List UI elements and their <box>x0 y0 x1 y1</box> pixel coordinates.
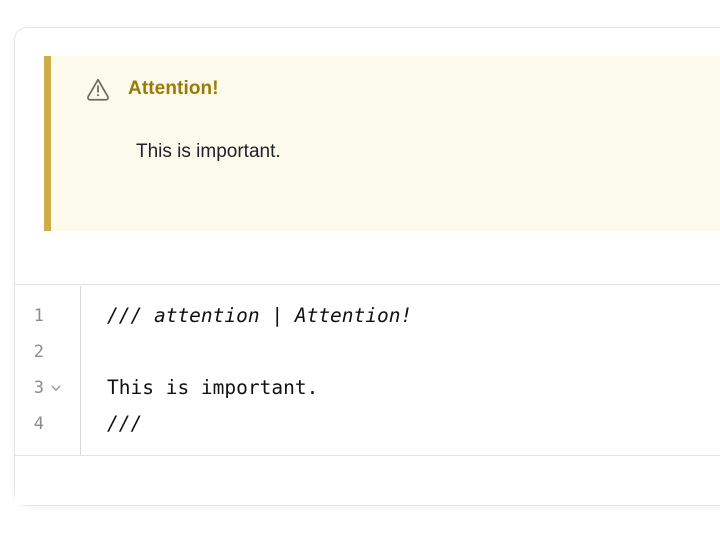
page-root: Attention! This is important. 1 2 3 <box>0 0 720 544</box>
admonition-body-text: This is important. <box>136 141 281 163</box>
gutter-row: 2 <box>15 334 81 370</box>
gutter-row: 4 <box>15 406 81 442</box>
line-number: 2 <box>15 344 44 361</box>
editor-code-area[interactable]: /// attention | Attention! This is impor… <box>95 286 720 455</box>
gutter-row: 1 <box>15 298 81 334</box>
fold-chevron-down-icon[interactable] <box>44 382 62 394</box>
code-line[interactable]: This is important. <box>107 370 318 406</box>
code-line[interactable]: /// attention | Attention! <box>107 298 412 334</box>
admonition-title-row: Attention! <box>85 74 219 104</box>
line-number: 1 <box>15 308 44 325</box>
source-code-editor[interactable]: 1 2 3 4 /// attention | Attention! This … <box>15 286 720 456</box>
line-number: 3 <box>15 380 44 397</box>
rendered-preview-pane: Attention! This is important. <box>15 28 720 285</box>
code-line[interactable]: /// <box>107 406 142 442</box>
line-number: 4 <box>15 416 44 433</box>
warning-triangle-icon <box>85 76 111 102</box>
card-footer <box>15 457 720 505</box>
admonition-attention-block: Attention! This is important. <box>44 56 720 231</box>
gutter-row: 3 <box>15 370 81 406</box>
admonition-title-text: Attention! <box>128 78 219 100</box>
markdown-admonition-preview-card: Attention! This is important. 1 2 3 <box>14 27 720 506</box>
